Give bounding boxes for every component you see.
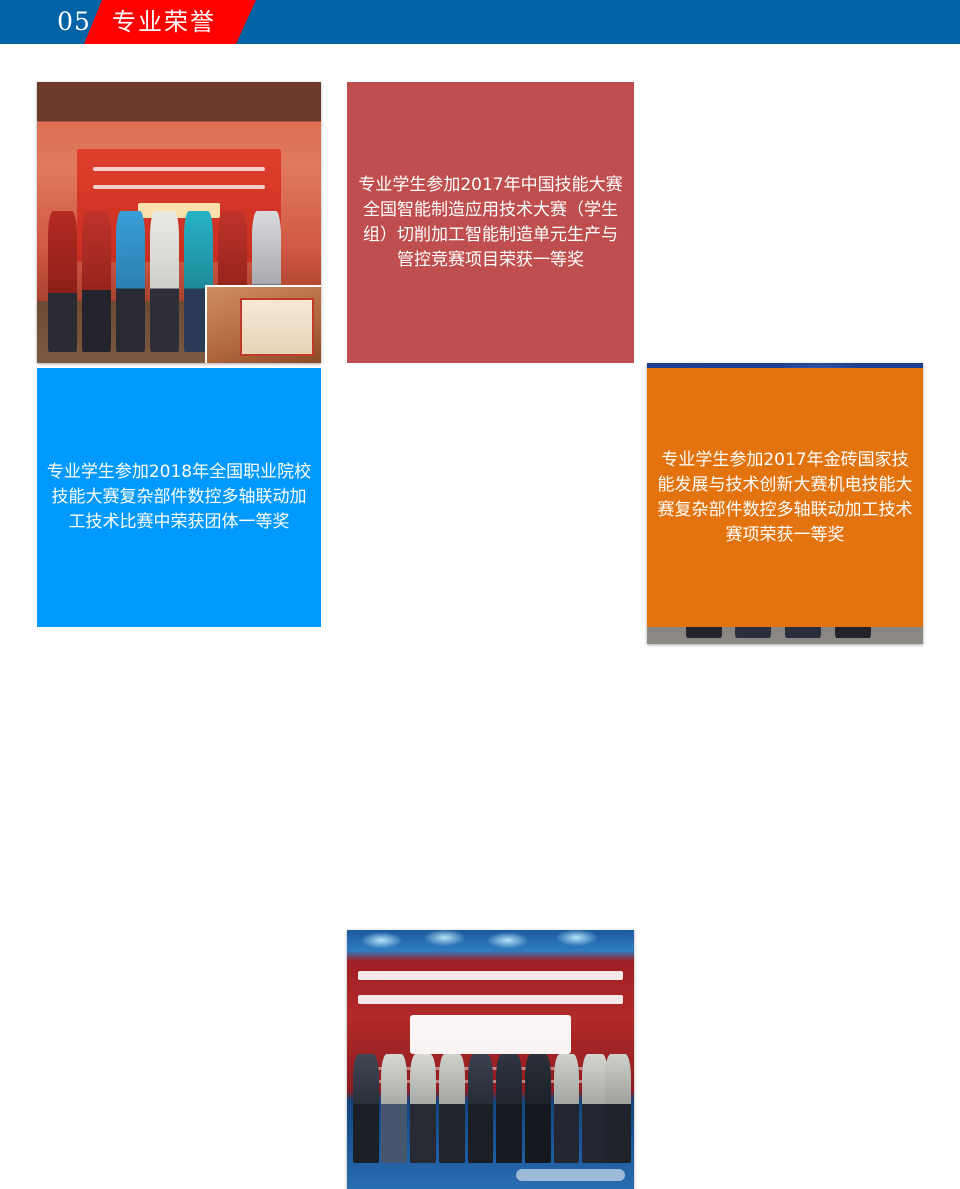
- photo-closing-ceremony-2017: [347, 930, 634, 1189]
- certificate-inset: [205, 285, 321, 363]
- caption-card-2017-china-skills: 专业学生参加2017年中国技能大赛全国智能制造应用技术大赛（学生组）切削加工智能…: [347, 82, 634, 363]
- photo-closing-ceremony-2018: [37, 82, 321, 363]
- watermark: [516, 1169, 625, 1181]
- honors-grid: 专业学生参加2017年中国技能大赛全国智能制造应用技术大赛（学生组）切削加工智能…: [37, 82, 923, 627]
- caption-text: 专业学生参加2017年金砖国家技能发展与技术创新大赛机电技能大赛复杂部件数控多轴…: [655, 448, 915, 548]
- caption-text: 专业学生参加2018年全国职业院校技能大赛复杂部件数控多轴联动加工技术比赛中荣获…: [45, 460, 313, 535]
- caption-card-2017-brics: 专业学生参加2017年金砖国家技能发展与技术创新大赛机电技能大赛复杂部件数控多轴…: [647, 368, 923, 627]
- section-title: 专业荣誉: [112, 5, 216, 39]
- section-number: 05: [46, 4, 102, 40]
- award-certificate: [240, 298, 314, 357]
- caption-text: 专业学生参加2017年中国技能大赛全国智能制造应用技术大赛（学生组）切削加工智能…: [355, 173, 626, 273]
- backdrop-headline: [410, 1015, 571, 1054]
- slide-header: 05 专业荣誉: [0, 0, 960, 44]
- caption-card-2018-national-vocational: 专业学生参加2018年全国职业院校技能大赛复杂部件数控多轴联动加工技术比赛中荣获…: [37, 368, 321, 627]
